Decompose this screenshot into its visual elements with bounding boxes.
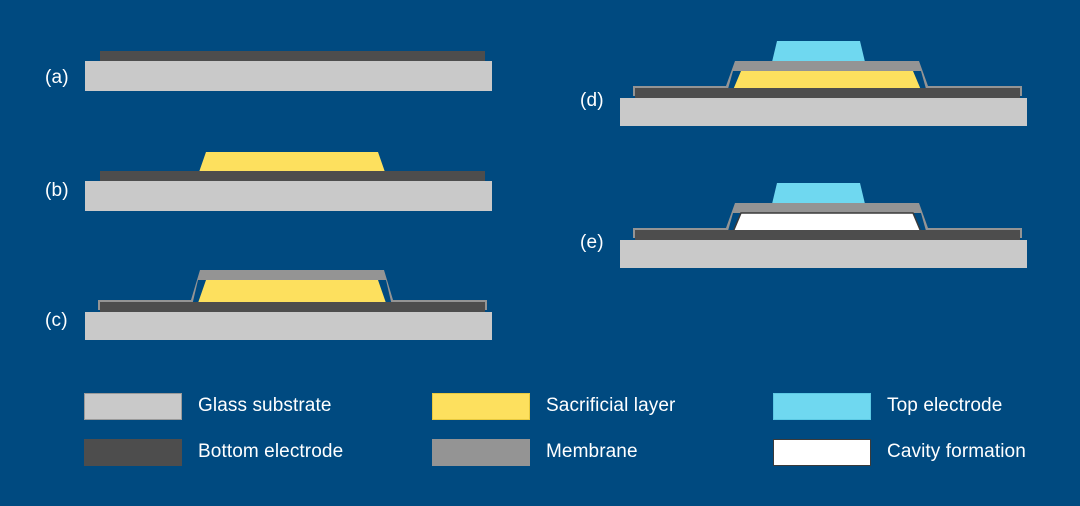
glass-substrate-layer	[620, 240, 1027, 268]
glass-substrate-layer	[85, 61, 492, 91]
legend-item-cavity-formation: Cavity formation	[773, 438, 1026, 466]
panel-a: (a)	[40, 40, 510, 100]
legend-swatch-top-electrode	[773, 393, 871, 420]
legend-label-cavity-formation: Cavity formation	[887, 441, 1026, 463]
legend-label-top-electrode: Top electrode	[887, 395, 1002, 417]
legend-swatch-membrane	[432, 439, 530, 466]
panel-d: (d)	[575, 30, 1045, 126]
legend-item-bottom-electrode: Bottom electrode	[84, 438, 343, 466]
legend-item-membrane: Membrane	[432, 438, 638, 466]
panel-e-diagram	[575, 172, 1045, 268]
legend-label-bottom-electrode: Bottom electrode	[198, 441, 343, 463]
legend-swatch-bottom-electrode	[84, 439, 182, 466]
panel-b: (b)	[40, 140, 510, 215]
glass-substrate-layer	[85, 181, 492, 211]
legend-item-sacrificial-layer: Sacrificial layer	[432, 392, 675, 420]
top-electrode-shape	[772, 41, 865, 62]
glass-substrate-layer	[620, 98, 1027, 126]
panel-e-label: (e)	[580, 232, 604, 254]
legend-label-membrane: Membrane	[546, 441, 638, 463]
panel-c: (c)	[40, 258, 510, 340]
panel-d-label: (d)	[580, 90, 604, 112]
legend-swatch-cavity-formation	[773, 439, 871, 466]
top-electrode-shape	[772, 183, 865, 204]
sacrificial-layer-shape	[733, 71, 921, 90]
panel-a-diagram	[40, 40, 510, 100]
legend-item-glass-substrate: Glass substrate	[84, 392, 332, 420]
legend-label-sacrificial-layer: Sacrificial layer	[546, 395, 675, 417]
panel-b-diagram	[40, 140, 510, 215]
sacrificial-layer-shape	[198, 280, 386, 303]
legend-label-glass-substrate: Glass substrate	[198, 395, 332, 417]
panel-d-diagram	[575, 30, 1045, 126]
panel-e: (e)	[575, 172, 1045, 268]
panel-a-label: (a)	[45, 67, 69, 89]
figure-canvas: (a) (b) (c)	[0, 0, 1080, 506]
legend: Glass substrate Bottom electrode Sacrifi…	[0, 378, 1080, 478]
cavity-shape	[733, 213, 921, 232]
glass-substrate-layer	[85, 312, 492, 340]
legend-swatch-glass-substrate	[84, 393, 182, 420]
panel-c-diagram	[40, 258, 510, 340]
legend-swatch-sacrificial-layer	[432, 393, 530, 420]
panel-c-label: (c)	[45, 310, 68, 332]
panel-b-label: (b)	[45, 180, 69, 202]
legend-item-top-electrode: Top electrode	[773, 392, 1002, 420]
